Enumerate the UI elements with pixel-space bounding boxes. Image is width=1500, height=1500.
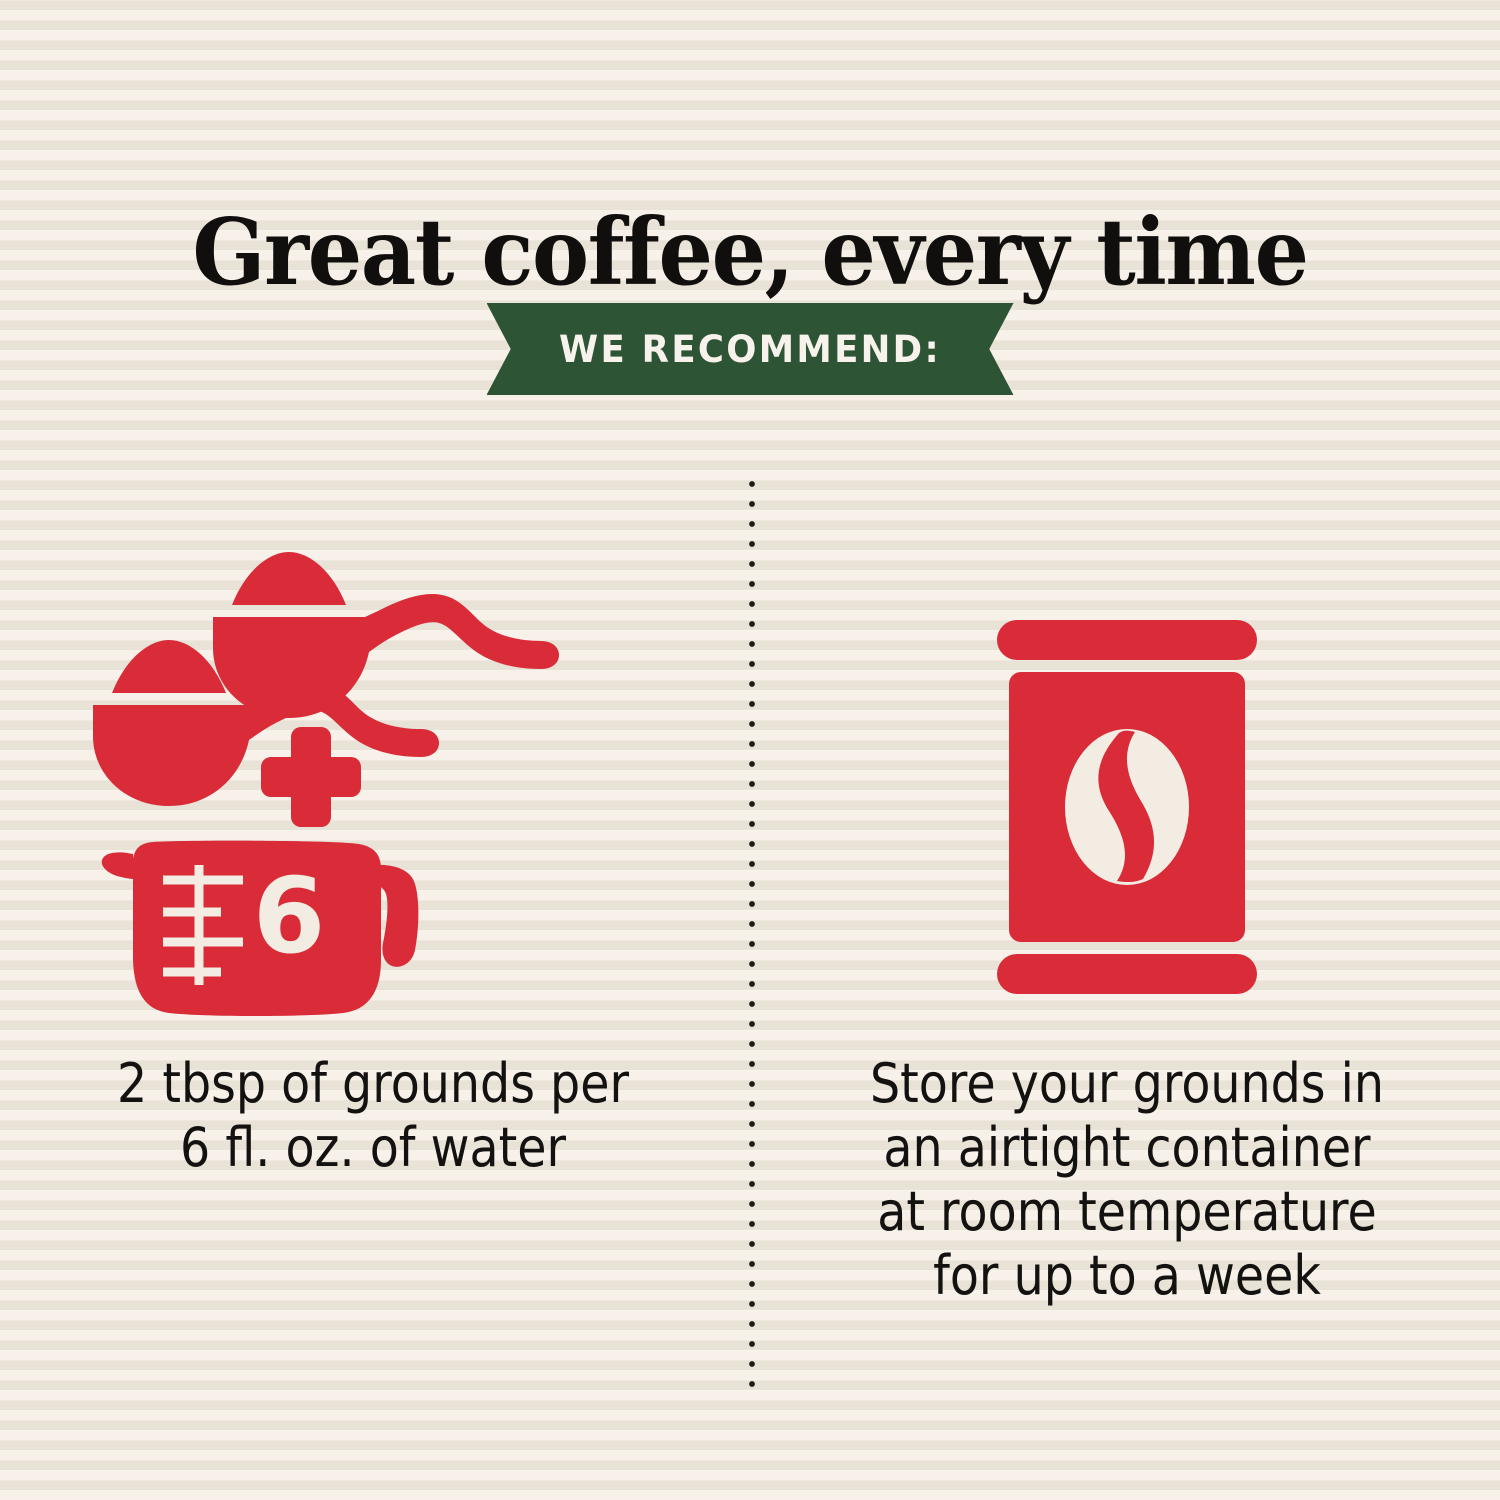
coffee-can-icon [782,480,1472,1040]
two-spoons-plus-measuring-cup-icon: 6 [28,480,718,1040]
caption-line: at room temperature [823,1180,1430,1244]
can-lid-icon [997,620,1257,660]
recommendation-caption: Store your grounds in an airtight contai… [823,1052,1430,1308]
can-base-icon [997,954,1257,994]
recommendation-caption: 2 tbsp of grounds per 6 fl. oz. of water [69,1052,676,1180]
spoon-of-grounds-icon [213,552,559,718]
vertical-dotted-divider [748,480,756,1400]
recommendation-item-ratio: 6 2 tbsp of grounds per 6 fl. oz. of wat… [28,480,718,1400]
coffee-bean-icon [1065,729,1189,885]
caption-line: an airtight container [823,1116,1430,1180]
caption-line: for up to a week [823,1244,1430,1308]
ribbon-shape: WE RECOMMEND: [487,303,1014,395]
measuring-cup-icon: 6 [102,841,419,1016]
recommendations-row: 6 2 tbsp of grounds per 6 fl. oz. of wat… [0,480,1500,1400]
ribbon-label: WE RECOMMEND: [559,328,941,371]
caption-line: 2 tbsp of grounds per [69,1052,676,1116]
plus-icon [261,727,361,827]
recommendation-banner: WE RECOMMEND: [0,303,1500,395]
recommendation-item-storage: Store your grounds in an airtight contai… [782,480,1472,1400]
page-title: Great coffee, every time [53,202,1448,302]
infographic-page: Great coffee, every time WE RECOMMEND: [0,0,1500,1500]
caption-line: Store your grounds in [823,1052,1430,1116]
caption-line: 6 fl. oz. of water [69,1116,676,1180]
measuring-cup-value: 6 [253,855,325,977]
